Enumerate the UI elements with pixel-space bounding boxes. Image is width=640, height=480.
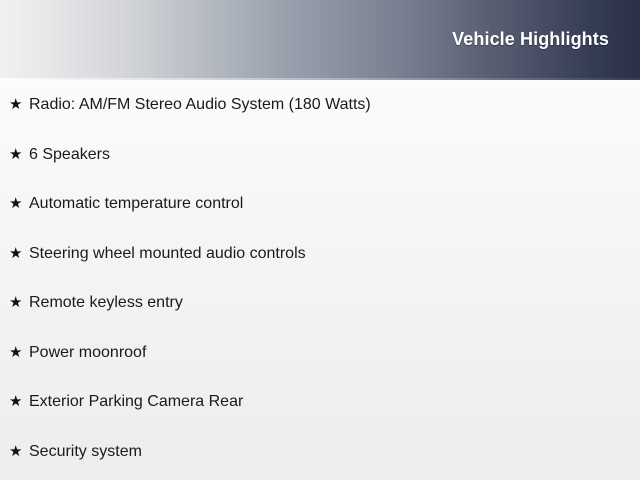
- list-item: ★Exterior Parking Camera Rear: [0, 377, 640, 427]
- list-item: ★Automatic temperature control: [0, 179, 640, 229]
- star-icon: ★: [9, 179, 29, 229]
- star-icon: ★: [9, 427, 29, 477]
- vehicle-highlights-list: ★Radio: AM/FM Stereo Audio System (180 W…: [0, 80, 640, 476]
- star-icon: ★: [9, 130, 29, 180]
- header-banner: Vehicle Highlights: [0, 0, 640, 80]
- star-icon: ★: [9, 278, 29, 328]
- list-item-label: Security system: [29, 427, 142, 477]
- star-icon: ★: [9, 229, 29, 279]
- star-icon: ★: [9, 328, 29, 378]
- list-item-label: Automatic temperature control: [29, 179, 243, 229]
- list-item-label: Exterior Parking Camera Rear: [29, 377, 243, 427]
- list-item-label: Remote keyless entry: [29, 278, 183, 328]
- list-item-label: 6 Speakers: [29, 130, 110, 180]
- star-icon: ★: [9, 377, 29, 427]
- list-item: ★Security system: [0, 427, 640, 477]
- vehicle-highlights-page: Vehicle Highlights ★Radio: AM/FM Stereo …: [0, 0, 640, 480]
- list-item: ★Remote keyless entry: [0, 278, 640, 328]
- list-item-label: Radio: AM/FM Stereo Audio System (180 Wa…: [29, 80, 371, 130]
- list-item: ★Radio: AM/FM Stereo Audio System (180 W…: [0, 80, 640, 130]
- page-title: Vehicle Highlights: [452, 29, 609, 50]
- list-item: ★Steering wheel mounted audio controls: [0, 229, 640, 279]
- list-item: ★Power moonroof: [0, 328, 640, 378]
- star-icon: ★: [9, 80, 29, 130]
- list-item: ★6 Speakers: [0, 130, 640, 180]
- list-item-label: Steering wheel mounted audio controls: [29, 229, 306, 279]
- list-item-label: Power moonroof: [29, 328, 146, 378]
